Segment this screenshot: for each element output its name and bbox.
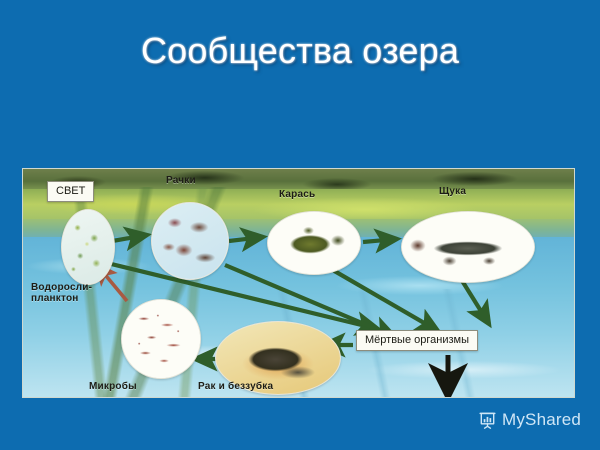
crucian-carp-icon [268, 212, 360, 274]
myshared-watermark[interactable]: MyShared [478, 410, 581, 430]
node-pike [401, 211, 535, 283]
node-label-algae-line1: Водоросли- [31, 282, 92, 293]
crustaceans-icon [152, 203, 228, 279]
arrow-crucian-to-pike [363, 239, 397, 242]
pike-fish-icon [402, 212, 534, 282]
node-crucian-carp [267, 211, 361, 275]
node-label-pike: Щука [439, 186, 466, 197]
page-title: Сообщества озера [0, 28, 600, 74]
slide: Сообщества озера [0, 0, 600, 450]
node-label-crayfish-mussel: Рак и беззубка [198, 381, 273, 392]
node-label-microbes: Микробы [89, 381, 137, 392]
arrow-crustaceans-to-crucian [229, 237, 263, 241]
node-label-crucian-carp: Карась [279, 189, 315, 200]
microbes-icon [122, 300, 200, 378]
node-microbes [121, 299, 201, 379]
algae-plankton-icon [62, 210, 114, 284]
lake-community-diagram: СВЕТ Мёртвые организмы Водоросли- планкт… [22, 168, 575, 398]
node-algae-plankton [61, 209, 115, 285]
node-label-algae-plankton: Водоросли- планктон [31, 282, 105, 304]
arrow-pike-to-dead-organisms [461, 279, 489, 324]
node-crustaceans [151, 202, 229, 280]
label-box-light: СВЕТ [47, 181, 94, 202]
label-box-dead-organisms: Мёртвые организмы [356, 330, 478, 351]
node-label-crustaceans: Рачки [166, 175, 196, 186]
node-label-algae-line2: планктон [31, 293, 79, 304]
myshared-label: MyShared [502, 410, 581, 430]
presentation-board-icon [478, 411, 497, 430]
